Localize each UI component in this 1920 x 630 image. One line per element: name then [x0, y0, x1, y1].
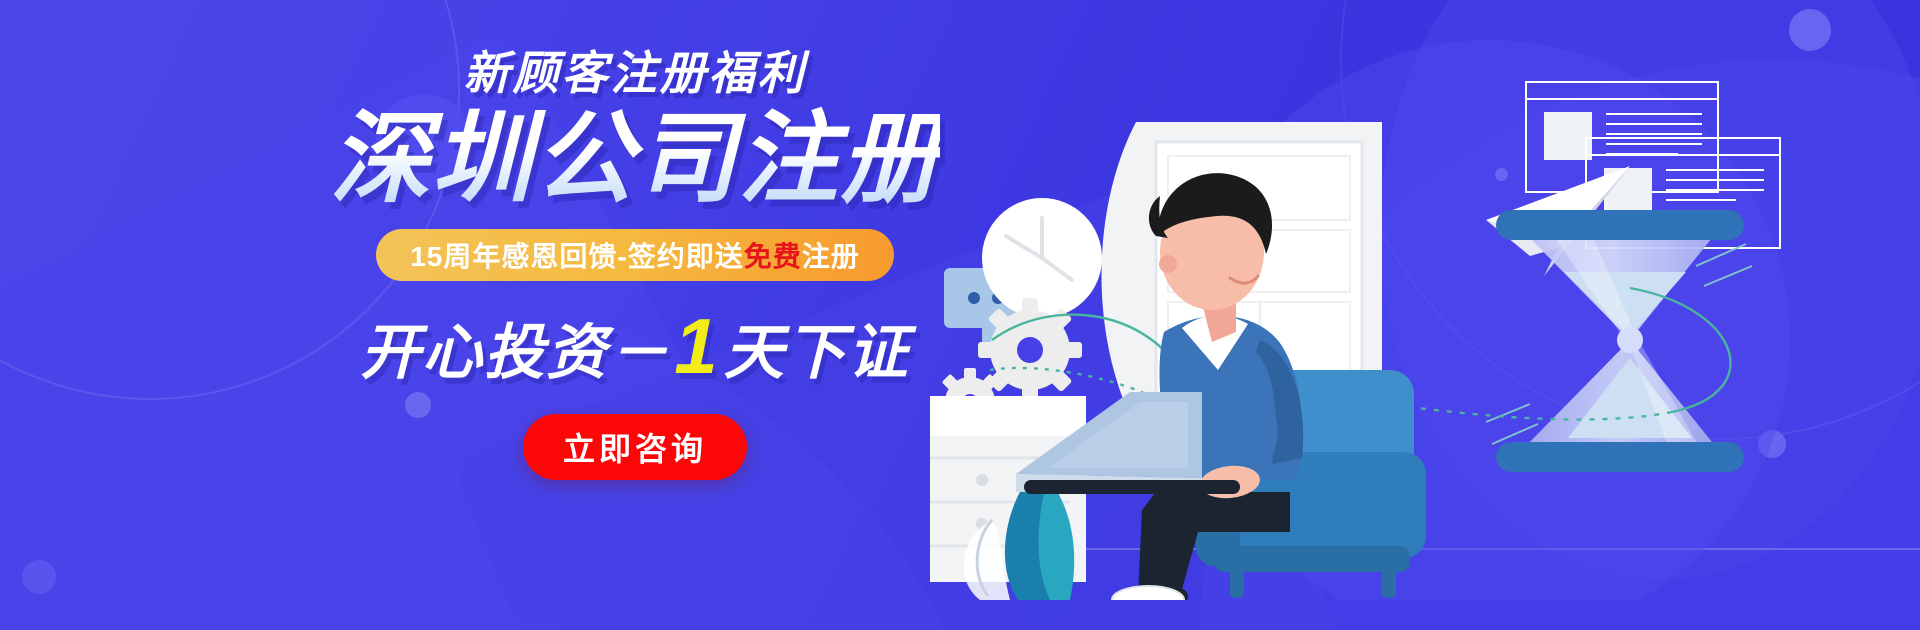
promo-badge-suffix: 注册	[802, 235, 860, 275]
consult-now-button-label: 立即咨询	[563, 424, 707, 470]
subline-text: 开心投资－1天下证	[330, 301, 940, 392]
subline-prefix: 开心投资－	[360, 319, 670, 386]
promo-badge: 15周年感恩回馈-签约即送免费注册	[376, 229, 894, 281]
eyebrow-text: 新顾客注册福利	[330, 48, 940, 99]
consult-now-button[interactable]: 立即咨询	[523, 414, 747, 480]
promo-banner: 新顾客注册福利 深圳公司注册 15周年感恩回馈-签约即送免费注册 开心投资－1天…	[0, 0, 1920, 630]
promo-badge-highlight: 免费	[744, 235, 802, 275]
subline-suffix: 天下证	[724, 319, 910, 386]
hero-illustration	[930, 40, 1920, 600]
background-dot-bottom-left	[22, 560, 56, 594]
copy-block: 新顾客注册福利 深圳公司注册 15周年感恩回馈-签约即送免费注册 开心投资－1天…	[330, 48, 940, 480]
clock-icon	[982, 198, 1102, 318]
promo-badge-prefix: 15周年感恩回馈-签约即送	[410, 235, 743, 275]
page-title: 深圳公司注册	[330, 105, 940, 213]
subline-number: 1	[670, 302, 723, 390]
